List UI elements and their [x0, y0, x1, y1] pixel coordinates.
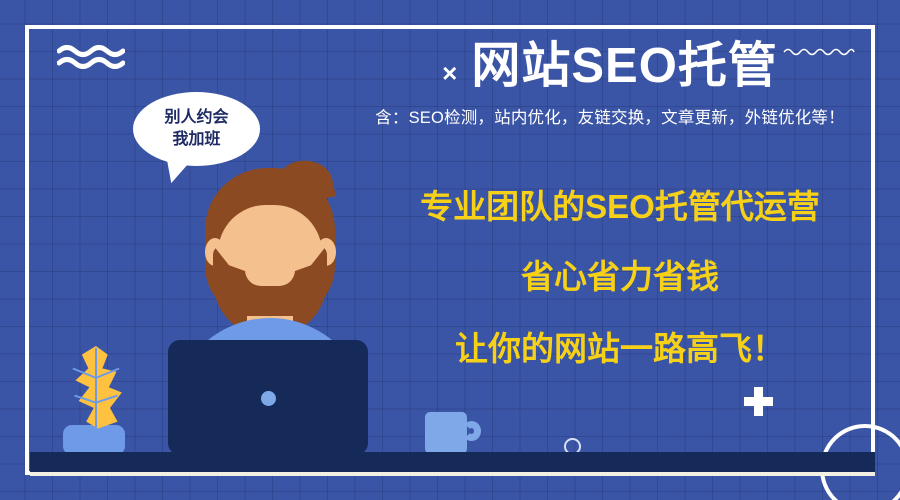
desk-edge — [30, 472, 875, 476]
speech-bubble-line-2: 我加班 — [172, 129, 220, 151]
plant-pot — [63, 425, 125, 455]
leaf-stem — [95, 348, 97, 432]
desk-icon — [30, 452, 875, 474]
potted-plant-icon — [70, 346, 124, 432]
speech-bubble-line-1: 别人约会 — [164, 107, 228, 129]
mug-handle — [462, 421, 481, 441]
laptop-logo-dot — [261, 391, 276, 406]
plus-icon — [744, 387, 773, 416]
coffee-mug-icon — [425, 412, 467, 456]
illustration-scene — [0, 0, 520, 500]
seo-promo-banner: 别人约会 我加班 × 网站SEO托管 含：SEO检测，站内优化，友链交换，文章更… — [0, 0, 900, 500]
speech-bubble: 别人约会 我加班 — [133, 92, 260, 166]
